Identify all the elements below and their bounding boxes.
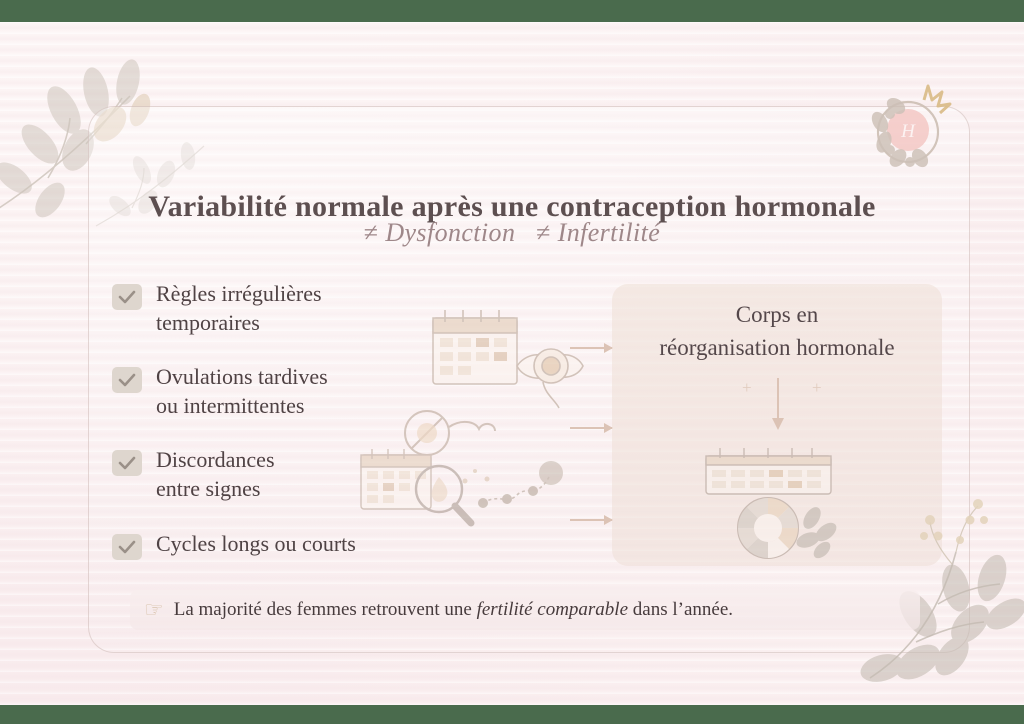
sparkle-icon-right: + [812, 379, 822, 396]
check-icon [112, 284, 142, 310]
subtitle-word-infertilite: Infertilité [558, 218, 661, 247]
footer-text-emphasis: fertilité comparable [477, 599, 628, 620]
list-item-line1: Ovulations tardives [156, 364, 328, 389]
illustration-calendar-uterus [425, 304, 590, 414]
panel-title-line2: réorganisation hormonale [659, 335, 894, 360]
check-icon [112, 534, 142, 560]
logo-monogram: H [900, 121, 916, 142]
subtitle: ≠ Dysfonction ≠ Infertilité [0, 218, 1024, 248]
pointing-hand-icon: ☞ [144, 599, 164, 621]
flow-arrow-1 [570, 347, 612, 349]
flow-arrow-3 [570, 519, 612, 521]
illustration-cycle-wheel [700, 440, 880, 560]
slide-canvas: H Variabilité normale après une contrace… [0, 22, 1024, 705]
illustration-cycle-tracking [355, 407, 595, 537]
list-item-label: Ovulations tardives ou intermittentes [156, 363, 328, 420]
check-icon [112, 367, 142, 393]
footer-note-text: La majorité des femmes retrouvent une fe… [174, 599, 733, 621]
down-arrow-icon [770, 378, 786, 432]
list-item-line2: entre signes [156, 476, 260, 501]
list-item[interactable]: Règles irrégulières temporaires [112, 280, 442, 337]
list-item-line1: Cycles longs ou courts [156, 531, 356, 556]
sparkle-icon-left: + [742, 379, 752, 396]
not-equal-icon-1: ≠ [364, 218, 379, 247]
footer-text-before: La majorité des femmes retrouvent une [174, 599, 477, 620]
subtitle-word-dysfonction: Dysfonction [385, 218, 515, 247]
panel-title-line1: Corps en [736, 302, 818, 327]
list-item-line1: Règles irrégulières [156, 281, 322, 306]
check-icon [112, 450, 142, 476]
footer-text-after: dans l’année. [628, 599, 733, 620]
list-item-line1: Discordances [156, 447, 275, 472]
list-item-label: Cycles longs ou courts [156, 530, 356, 559]
list-item-label: Règles irrégulières temporaires [156, 280, 322, 337]
panel-title: Corps en réorganisation hormonale [612, 298, 942, 365]
list-item-label: Discordances entre signes [156, 446, 275, 503]
footer-note: ☞ La majorité des femmes retrouvent une … [130, 590, 920, 630]
list-item-line2: ou intermittentes [156, 393, 304, 418]
brand-logo: H [862, 84, 954, 176]
flow-arrow-2 [570, 427, 612, 429]
list-item-line2: temporaires [156, 310, 260, 335]
not-equal-icon-2: ≠ [536, 218, 551, 247]
